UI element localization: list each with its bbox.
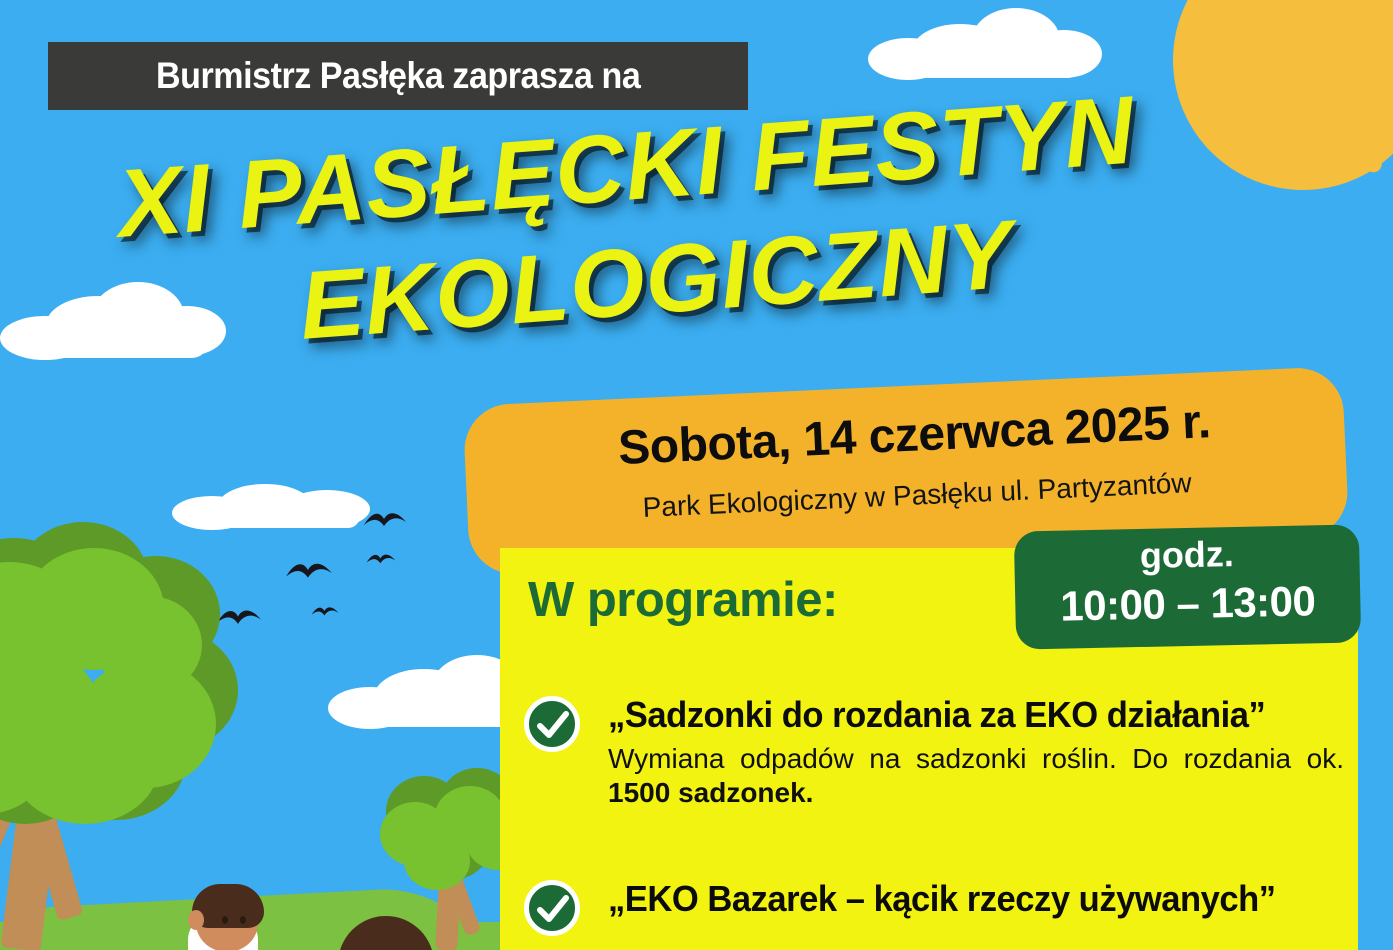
bird-icon xyxy=(216,605,262,628)
eco-festival-poster: Burmistrz Pasłęka zaprasza na XI PASŁĘCK… xyxy=(0,0,1393,950)
child-figure xyxy=(338,916,448,950)
hours-badge: godz. 10:00 – 13:00 xyxy=(1014,524,1361,649)
program-item-title: „Sadzonki do rozdania za EKO działania” xyxy=(608,694,1315,736)
bird-icon xyxy=(285,558,333,582)
cloud-icon xyxy=(868,8,1108,70)
bird-icon xyxy=(311,604,339,618)
invite-ribbon: Burmistrz Pasłęka zaprasza na xyxy=(48,42,748,110)
hours-value: 10:00 – 13:00 xyxy=(1015,576,1361,631)
program-item: „EKO Bazarek – kącik rzeczy używanych” xyxy=(524,878,1344,920)
cloud-icon xyxy=(0,280,230,352)
check-circle-icon xyxy=(524,696,580,752)
check-circle-icon xyxy=(524,880,580,936)
bird-icon xyxy=(363,508,407,530)
program-item-description: Wymiana odpadów na sadzonki roślin. Do r… xyxy=(608,742,1344,810)
child-figure xyxy=(178,880,288,950)
cloud-icon xyxy=(172,480,382,526)
invite-text: Burmistrz Pasłęka zaprasza na xyxy=(156,55,640,97)
program-item-title: „EKO Bazarek – kącik rzeczy używanych” xyxy=(608,878,1315,920)
program-heading: W programie: xyxy=(528,572,838,628)
program-item-desc-normal: Wymiana odpadów na sadzonki roślin. Do r… xyxy=(608,743,1344,774)
bird-icon xyxy=(366,551,396,566)
program-item: „Sadzonki do rozdania za EKO działania” … xyxy=(524,694,1344,810)
program-item-desc-bold: 1500 sadzonek. xyxy=(608,777,813,808)
hours-label: godz. xyxy=(1014,530,1360,579)
